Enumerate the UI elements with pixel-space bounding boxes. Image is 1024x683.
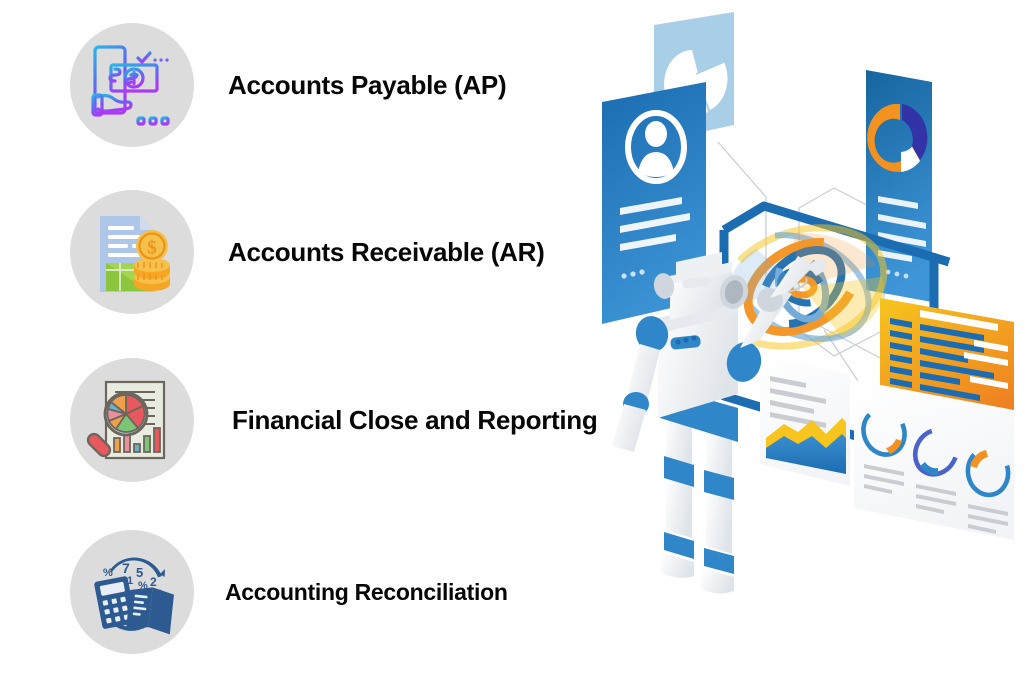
accounts-payable-badge — [70, 23, 194, 147]
donut-chart-panel — [866, 70, 932, 302]
invoice-payment-hand-icon — [86, 39, 178, 131]
svg-text:$: $ — [147, 238, 157, 259]
svg-text:5: 5 — [136, 565, 143, 580]
isometric-dashboard-scene — [584, 0, 1024, 683]
feature-label-accounting-reconciliation: Accounting Reconciliation — [225, 579, 508, 606]
feature-item-accounting-reconciliation[interactable]: % 7 5 1 % 2 8 0 — [70, 530, 508, 654]
feature-label-accounts-receivable: Accounts Receivable (AR) — [228, 237, 544, 268]
feature-item-accounts-receivable[interactable]: $ Accounts Receivable (AR) — [70, 190, 544, 314]
feature-label-financial-close-reporting: Financial Close and Reporting — [232, 405, 597, 436]
report-magnifier-charts-icon — [86, 374, 178, 466]
financial-close-badge — [70, 358, 194, 482]
svg-text:%: % — [103, 567, 113, 579]
page-root: Accounts Payable (AP) — [0, 0, 1024, 683]
feature-item-accounts-payable[interactable]: Accounts Payable (AP) — [70, 23, 506, 147]
robot-analytics-illustration — [584, 0, 1024, 683]
accounts-receivable-badge: $ — [70, 190, 194, 314]
calculator-ledger-icon: % 7 5 1 % 2 8 0 — [86, 546, 178, 638]
svg-text:7: 7 — [122, 560, 130, 576]
feature-label-accounts-payable: Accounts Payable (AP) — [228, 70, 506, 101]
invoice-coins-icon: $ — [86, 206, 178, 298]
feature-list: Accounts Payable (AP) — [0, 0, 600, 683]
area-chart-panel — [760, 356, 850, 486]
feature-item-financial-close-reporting[interactable]: Financial Close and Reporting — [70, 358, 597, 482]
accounting-reconciliation-badge: % 7 5 1 % 2 8 0 — [70, 530, 194, 654]
